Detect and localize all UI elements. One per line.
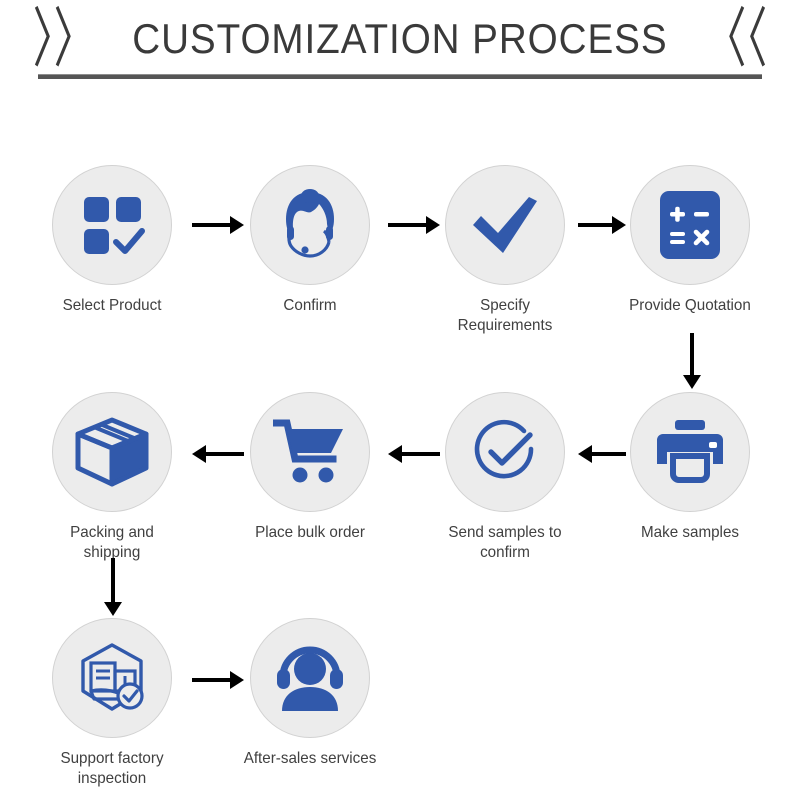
step-label: Send samples to confirm	[434, 523, 577, 563]
step-select-product[interactable]: Select Product	[37, 165, 187, 316]
step-icon-bubble	[52, 165, 172, 285]
arrow-step5-to-step6	[578, 444, 626, 462]
step-provide-quotation[interactable]: Provide Quotation	[615, 165, 765, 316]
arrow-step3-to-step4	[578, 215, 626, 233]
step-send-samples-to-confirm[interactable]: Send samples to confirm	[430, 392, 580, 563]
title-row: 〉〉 CUSTOMIZATION PROCESS 〈〈	[0, 8, 800, 70]
step-icon-bubble	[630, 165, 750, 285]
step-label: Provide Quotation	[619, 296, 762, 316]
calculator-icon	[657, 188, 723, 262]
step-icon-bubble	[52, 618, 172, 738]
step-label: After-sales services	[239, 749, 382, 769]
step-label: Support factory inspection	[41, 749, 184, 789]
step-label: Confirm	[239, 296, 382, 316]
circle-check-icon	[467, 414, 543, 490]
grid-check-icon	[76, 189, 148, 261]
arrow-step1-to-step2	[192, 215, 244, 233]
arrow-step2-to-step3	[388, 215, 440, 233]
page-title: CUSTOMIZATION PROCESS	[132, 15, 667, 63]
page-header: 〉〉 CUSTOMIZATION PROCESS 〈〈	[0, 0, 800, 92]
left-chevron-icon: 〉〉	[33, 7, 95, 72]
step-specify-requirements[interactable]: Specify Requirements	[430, 165, 580, 336]
support-agent-icon	[272, 643, 348, 713]
printer-icon	[653, 418, 727, 486]
header-divider	[38, 74, 762, 79]
checkmark-icon	[467, 187, 543, 263]
step-icon-bubble	[250, 165, 370, 285]
step-icon-bubble	[445, 392, 565, 512]
step-icon-bubble	[52, 392, 172, 512]
shopping-cart-icon	[273, 417, 347, 487]
step-icon-bubble	[250, 618, 370, 738]
step-confirm[interactable]: Confirm	[235, 165, 385, 316]
step-make-samples[interactable]: Make samples	[615, 392, 765, 543]
step-label: Select Product	[41, 296, 184, 316]
factory-shield-icon	[74, 641, 150, 715]
step-label: Packing and shipping	[41, 523, 184, 563]
arrow-step7-to-step8	[192, 444, 244, 462]
step-label: Specify Requirements	[434, 296, 577, 336]
step-after-sales-services[interactable]: After-sales services	[235, 618, 385, 769]
arrow-step8-to-step9	[103, 558, 121, 616]
package-box-icon	[74, 416, 150, 488]
step-label: Make samples	[619, 523, 762, 543]
step-place-bulk-order[interactable]: Place bulk order	[235, 392, 385, 543]
step-icon-bubble	[250, 392, 370, 512]
step-icon-bubble	[630, 392, 750, 512]
headset-woman-icon	[271, 186, 349, 264]
arrow-step4-to-step5	[682, 333, 700, 389]
step-icon-bubble	[445, 165, 565, 285]
step-label: Place bulk order	[239, 523, 382, 543]
arrow-step9-to-step10	[192, 670, 244, 688]
step-support-factory-inspection[interactable]: Support factory inspection	[37, 618, 187, 789]
step-packing-and-shipping[interactable]: Packing and shipping	[37, 392, 187, 563]
arrow-step6-to-step7	[388, 444, 440, 462]
right-chevron-icon: 〈〈	[705, 7, 767, 72]
